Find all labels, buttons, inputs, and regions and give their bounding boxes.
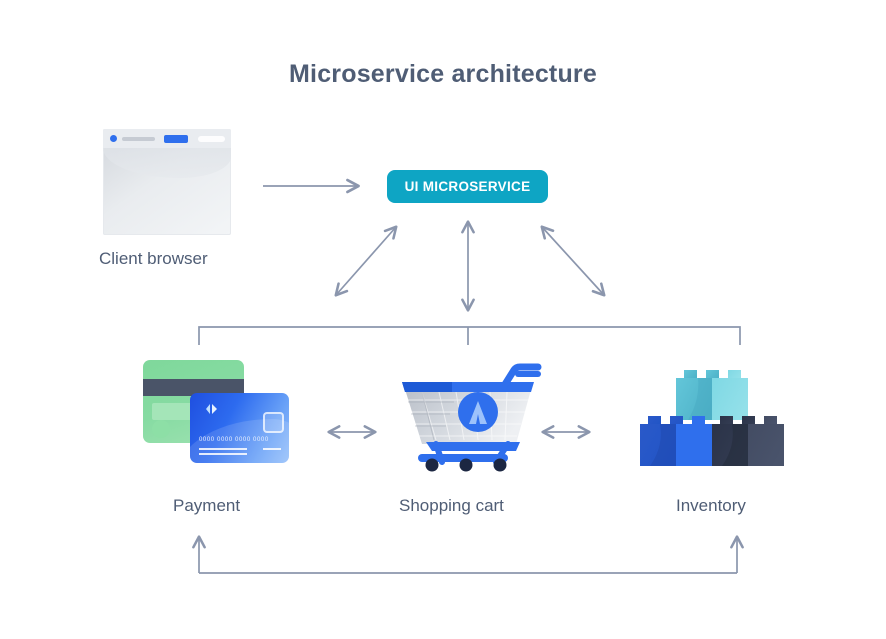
card-line-1	[199, 448, 247, 450]
page-title: Microservice architecture	[0, 60, 886, 89]
browser-search-field	[198, 136, 225, 142]
service-bus-bracket	[199, 327, 740, 345]
card-chip-icon	[263, 412, 284, 433]
card-line-2	[199, 453, 247, 455]
card-badge-circle	[152, 420, 170, 438]
feedback-bus-bracket	[199, 537, 737, 573]
browser-content-wave	[103, 148, 231, 178]
shopping-cart-label: Shopping cart	[399, 496, 504, 516]
credit-cards-icon: 0000 0000 0000 0000	[143, 360, 289, 468]
browser-address-bar	[122, 137, 155, 141]
card-line-3	[263, 448, 281, 450]
card-brand-logo-icon	[199, 401, 223, 417]
lego-bricks-icon	[640, 366, 798, 470]
ui-microservice-label: UI MICROSERVICE	[405, 179, 531, 194]
inventory-label: Inventory	[676, 496, 746, 516]
browser-window-icon	[103, 129, 231, 235]
client-browser-label: Client browser	[99, 249, 208, 269]
browser-dot-icon	[110, 135, 117, 142]
arrow-ui-to-payment	[336, 227, 396, 295]
browser-active-tab	[164, 135, 188, 143]
card-number-text: 0000 0000 0000 0000	[199, 437, 269, 443]
brick-stud	[706, 370, 719, 379]
diagram-canvas: Microservice architecture Client browser…	[0, 0, 886, 639]
payment-label: Payment	[173, 496, 240, 516]
brick-stud	[728, 370, 741, 379]
browser-toolbar	[103, 129, 231, 148]
connector-layer	[0, 0, 886, 639]
card-number: 0000 0000 0000 0000	[199, 437, 269, 443]
arrow-ui-to-inventory	[542, 227, 604, 295]
blue-card: 0000 0000 0000 0000	[190, 393, 289, 463]
ui-microservice-badge[interactable]: UI MICROSERVICE	[387, 170, 548, 203]
shopping-cart-icon	[392, 362, 544, 472]
brick-stud	[684, 370, 697, 379]
